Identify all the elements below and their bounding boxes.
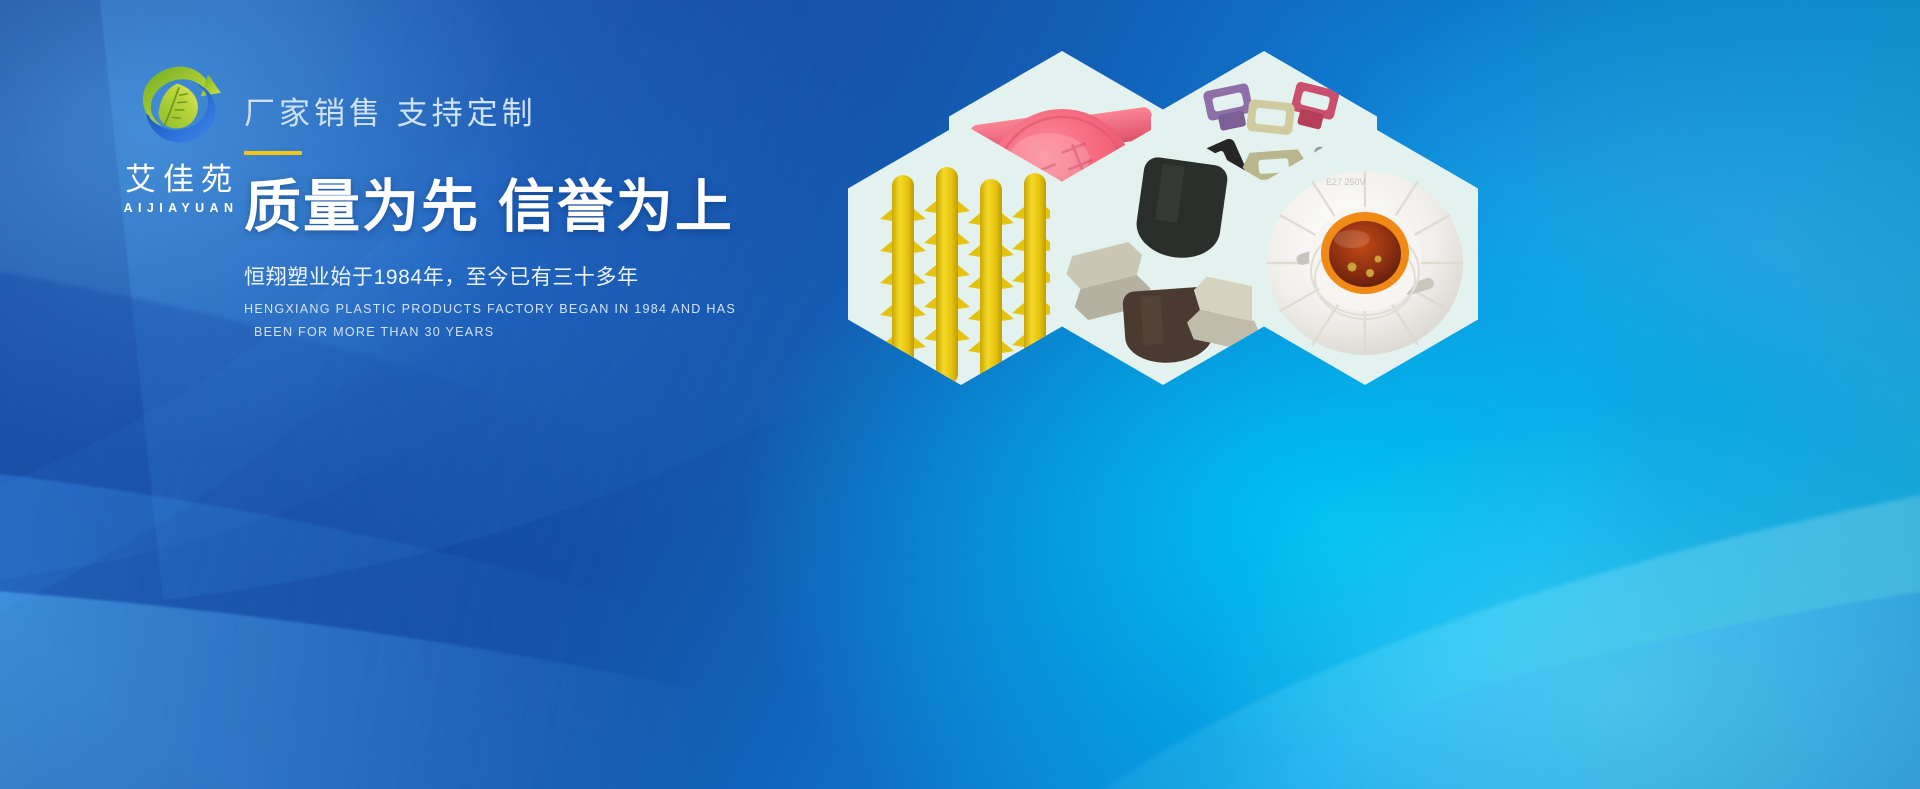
banner-left-content: 艾佳苑 AIJIAYUAN 厂家销售 支持定制 质量为先 信誉为上 恒翔塑业始于… bbox=[0, 0, 860, 789]
background-streak-right-1 bbox=[926, 440, 1920, 789]
subheadline-text: 恒翔塑业始于1984年，至今已有三十多年 bbox=[244, 261, 864, 291]
english-subtitle-line-2: BEEN FOR MORE THAN 30 YEARS bbox=[244, 325, 864, 339]
background-glow-bottom-right bbox=[1170, 379, 1920, 789]
eyebrow-text: 厂家销售 支持定制 bbox=[244, 88, 864, 133]
product-hexagon-cluster: E27 250V bbox=[800, 48, 1360, 388]
leaf-circle-logo-icon bbox=[124, 60, 234, 160]
english-subtitle-line-1: HENGXIANG PLASTIC PRODUCTS FACTORY BEGAN… bbox=[244, 302, 864, 316]
background-streak-right-2 bbox=[1005, 558, 1920, 789]
headline-text: 质量为先 信誉为上 bbox=[244, 177, 864, 239]
banner-copy-block: 厂家销售 支持定制 质量为先 信誉为上 恒翔塑业始于1984年，至今已有三十多年… bbox=[244, 88, 864, 339]
accent-rule bbox=[244, 151, 302, 155]
svg-text:E27 250V: E27 250V bbox=[1326, 177, 1366, 187]
promo-banner: 艾佳苑 AIJIAYUAN 厂家销售 支持定制 质量为先 信誉为上 恒翔塑业始于… bbox=[0, 0, 1920, 789]
